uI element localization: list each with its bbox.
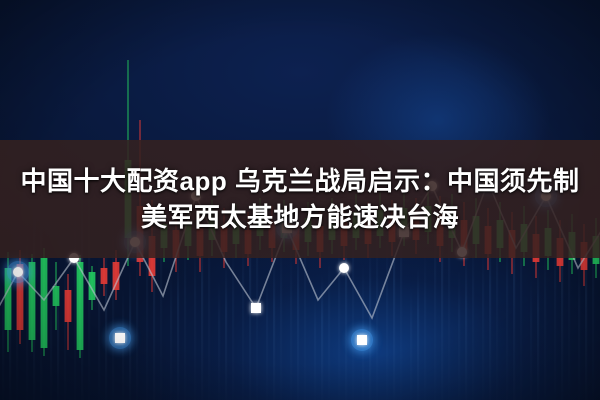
headline-band-sheen xyxy=(0,140,600,258)
banner-image: 中国十大配资app 乌克兰战局启示：中国须先制 美军西太基地方能速决台海 xyxy=(0,0,600,400)
